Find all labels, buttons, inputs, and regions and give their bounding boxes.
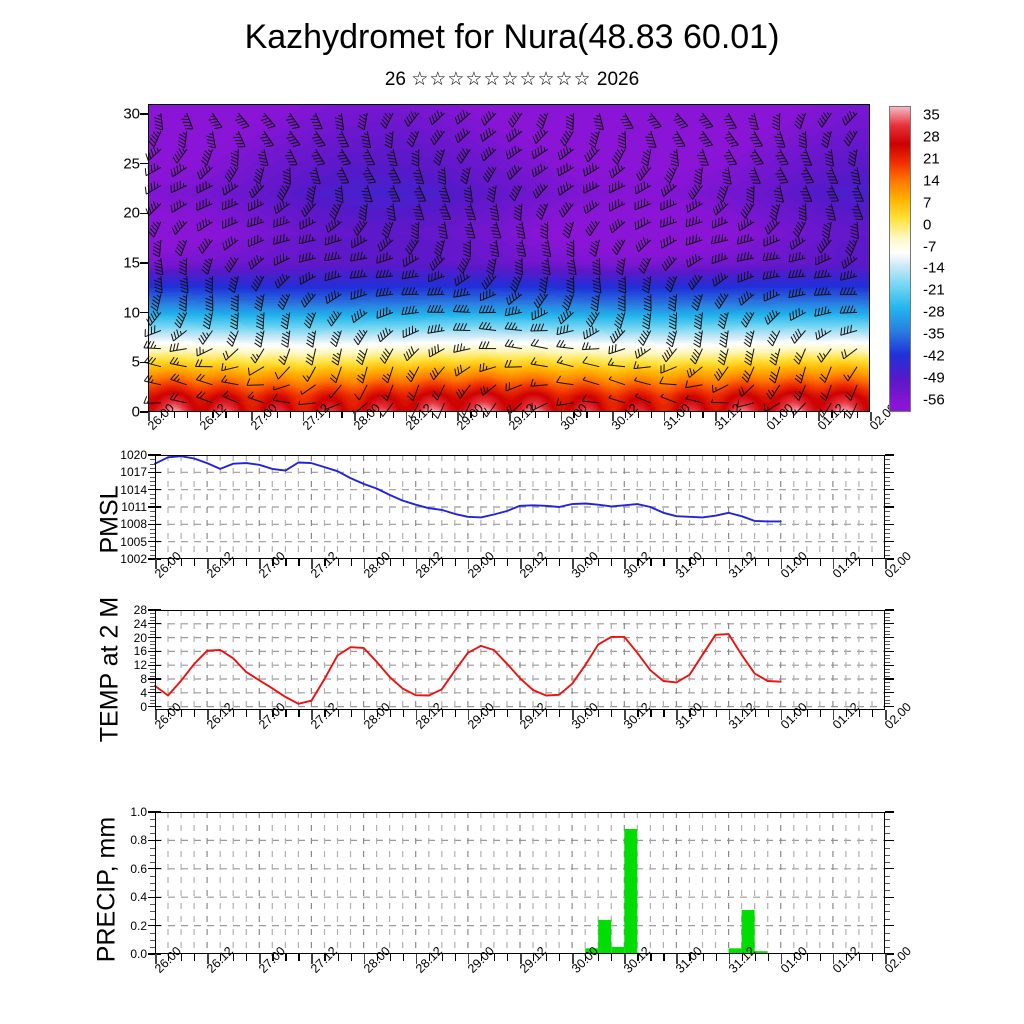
x-tick [820, 710, 821, 717]
y-minor-tick-right [885, 689, 890, 690]
y-minor-tick-right [885, 464, 890, 465]
pmsl-panel [155, 455, 885, 559]
y-minor-tick [150, 933, 155, 934]
y-tick-label: 15 [96, 254, 140, 271]
colorbar-tick-label: -56 [923, 391, 945, 408]
y-tick [148, 489, 155, 490]
x-tick [403, 559, 404, 566]
x-tick [820, 954, 821, 961]
x-tick [496, 412, 497, 418]
x-tick-label: 02.00 [882, 700, 914, 732]
y-minor-tick [150, 696, 155, 697]
colorbar-tick-label: 0 [923, 216, 931, 233]
y-minor-tick [150, 634, 155, 635]
x-tick [194, 954, 195, 961]
cross-section-panel [148, 104, 870, 412]
colorbar-tick-label: 35 [923, 107, 940, 124]
y-minor-tick-right [885, 550, 890, 551]
colorbar-tick-label: 28 [923, 129, 940, 146]
y-tick-right [885, 868, 894, 869]
y-minor-tick [150, 819, 155, 820]
colorbar-tick-label: 14 [923, 172, 940, 189]
y-tick [148, 953, 155, 954]
y-minor-tick [150, 555, 155, 556]
y-tick [140, 213, 148, 214]
y-tick-inner [155, 609, 161, 610]
y-tick-inner [155, 868, 161, 869]
y-minor-tick [150, 494, 155, 495]
y-minor-tick-right [885, 662, 890, 663]
y-tick-label: 4 [99, 686, 147, 700]
x-tick [403, 710, 404, 717]
temp-panel [155, 610, 885, 710]
y-minor-tick [150, 855, 155, 856]
subtitle-day: 26 [385, 69, 406, 90]
y-tick [148, 706, 155, 707]
y-minor-tick-right [885, 555, 890, 556]
page-subtitle: 26 ☆☆☆☆☆☆☆☆☆☆ 2026 [0, 68, 1024, 91]
x-tick [445, 412, 446, 418]
y-minor-tick [150, 546, 155, 547]
subtitle-year: 2026 [597, 69, 639, 90]
x-tick [872, 954, 873, 961]
y-minor-tick-right [885, 658, 890, 659]
y-tick-right [885, 692, 894, 693]
x-tick [559, 954, 560, 961]
y-tick-label: 25 [96, 155, 140, 172]
x-tick [611, 954, 612, 961]
y-tick-right [885, 706, 894, 707]
y-tick [148, 637, 155, 638]
y-minor-tick-right [885, 516, 890, 517]
y-tick-right [885, 840, 894, 841]
y-minor-tick-right [885, 648, 890, 649]
y-tick [148, 811, 155, 812]
x-tick [872, 559, 873, 566]
y-tick-right [885, 506, 894, 507]
y-minor-tick-right [885, 546, 890, 547]
x-tick [768, 954, 769, 961]
y-minor-tick [150, 919, 155, 920]
y-tick-label: 20 [96, 205, 140, 222]
y-tick-right [885, 472, 894, 473]
y-tick-inner [155, 811, 161, 812]
x-tick [455, 710, 456, 717]
y-tick [140, 312, 148, 313]
y-minor-tick-right [885, 876, 890, 877]
y-minor-tick-right [885, 529, 890, 530]
cross-section-frame [148, 104, 870, 412]
x-tick [754, 412, 755, 418]
y-tick-right [885, 925, 894, 926]
y-minor-tick [150, 890, 155, 891]
y-tick-label: 30 [96, 105, 140, 122]
x-tick [351, 954, 352, 961]
x-tick [246, 710, 247, 717]
x-tick [187, 412, 188, 418]
y-tick-right [885, 454, 894, 455]
y-minor-tick-right [885, 826, 890, 827]
y-minor-tick [150, 676, 155, 677]
colorbar-tick-label: -28 [923, 304, 945, 321]
x-tick [298, 559, 299, 566]
pmsl-frame [155, 455, 885, 559]
y-tick [140, 113, 148, 114]
x-tick [702, 412, 703, 418]
x-tick [298, 710, 299, 717]
temp-frame [155, 610, 885, 710]
y-minor-tick [150, 862, 155, 863]
y-minor-tick-right [885, 904, 890, 905]
y-minor-tick-right [885, 911, 890, 912]
y-minor-tick-right [885, 641, 890, 642]
y-minor-tick-right [885, 511, 890, 512]
precip-panel [155, 812, 885, 954]
y-minor-tick [150, 481, 155, 482]
y-tick [148, 925, 155, 926]
y-tick-right [885, 665, 894, 666]
y-minor-tick-right [885, 481, 890, 482]
x-tick [559, 710, 560, 717]
y-minor-tick [150, 516, 155, 517]
y-tick-label: 1002 [99, 552, 147, 566]
y-minor-tick-right [885, 855, 890, 856]
x-tick [290, 412, 291, 418]
y-tick-right [885, 489, 894, 490]
x-tick [246, 559, 247, 566]
y-minor-tick-right [885, 669, 890, 670]
y-minor-tick-right [885, 676, 890, 677]
y-minor-tick-right [885, 644, 890, 645]
y-tick [148, 558, 155, 559]
x-tick [716, 954, 717, 961]
y-tick [148, 623, 155, 624]
x-tick [507, 710, 508, 717]
y-tick-inner [155, 506, 161, 507]
y-minor-tick [150, 700, 155, 701]
y-tick-label: 24 [99, 617, 147, 631]
y-minor-tick-right [885, 947, 890, 948]
y-minor-tick [150, 485, 155, 486]
y-minor-tick [150, 641, 155, 642]
y-tick-label: 5 [96, 354, 140, 371]
y-minor-tick [150, 662, 155, 663]
y-minor-tick [150, 550, 155, 551]
x-tick [651, 412, 652, 418]
x-tick [663, 559, 664, 566]
subtitle-month-missing-glyphs: ☆☆☆☆☆☆☆☆☆☆ [411, 69, 591, 90]
x-tick [716, 710, 717, 717]
y-minor-tick [150, 911, 155, 912]
y-minor-tick-right [885, 862, 890, 863]
y-tick-right [885, 637, 894, 638]
y-minor-tick [150, 529, 155, 530]
y-tick [148, 609, 155, 610]
x-tick [455, 954, 456, 961]
x-tick [663, 710, 664, 717]
x-tick [806, 412, 807, 418]
colorbar-tick-label: -49 [923, 369, 945, 386]
y-minor-tick-right [885, 682, 890, 683]
y-tick-inner [155, 541, 161, 542]
y-minor-tick [150, 655, 155, 656]
y-minor-tick-right [885, 617, 890, 618]
y-minor-tick-right [885, 520, 890, 521]
y-minor-tick [150, 533, 155, 534]
x-tick [455, 559, 456, 566]
y-tick-label: 0.2 [99, 919, 147, 933]
y-minor-tick [150, 682, 155, 683]
y-minor-tick [150, 468, 155, 469]
y-minor-tick [150, 658, 155, 659]
x-tick [507, 954, 508, 961]
y-tick-right [885, 524, 894, 525]
y-minor-tick [150, 703, 155, 704]
x-tick [351, 559, 352, 566]
y-minor-tick [150, 904, 155, 905]
x-tick [768, 559, 769, 566]
y-tick-label: 1008 [99, 517, 147, 531]
x-tick [194, 559, 195, 566]
y-tick-inner [155, 925, 161, 926]
y-minor-tick-right [885, 883, 890, 884]
y-minor-tick [150, 613, 155, 614]
y-tick-inner [155, 489, 161, 490]
y-tick-inner [155, 665, 161, 666]
y-tick [148, 868, 155, 869]
x-tick [298, 954, 299, 961]
y-tick-inner [155, 840, 161, 841]
y-tick-label: 1017 [99, 465, 147, 479]
y-tick-label: 0 [99, 700, 147, 714]
weather-forecast-figure: Kazhydromet for Nura(48.83 60.01) 26 ☆☆☆… [0, 0, 1024, 1024]
y-minor-tick-right [885, 919, 890, 920]
x-tick [507, 559, 508, 566]
y-minor-tick-right [885, 494, 890, 495]
y-minor-tick [150, 627, 155, 628]
y-tick-right [885, 541, 894, 542]
colorbar-tick-label: -35 [923, 325, 945, 342]
colorbar-tick-label: -42 [923, 347, 945, 364]
colorbar-tick-label: -7 [923, 238, 936, 255]
y-minor-tick-right [885, 940, 890, 941]
y-minor-tick [150, 672, 155, 673]
y-minor-tick [150, 537, 155, 538]
y-minor-tick [150, 631, 155, 632]
y-minor-tick-right [885, 655, 890, 656]
x-tick [768, 710, 769, 717]
x-tick [663, 954, 664, 961]
y-minor-tick-right [885, 819, 890, 820]
y-minor-tick [150, 833, 155, 834]
y-minor-tick-right [885, 686, 890, 687]
x-tick [194, 710, 195, 717]
y-tick [148, 472, 155, 473]
y-tick-right [885, 897, 894, 898]
x-tick [393, 412, 394, 418]
y-tick-inner [155, 692, 161, 693]
y-minor-tick [150, 947, 155, 948]
y-minor-tick-right [885, 631, 890, 632]
y-tick-inner [155, 651, 161, 652]
y-tick-inner [155, 623, 161, 624]
y-minor-tick-right [885, 933, 890, 934]
y-tick [148, 678, 155, 679]
y-tick [148, 524, 155, 525]
y-tick-label: 10 [96, 304, 140, 321]
x-tick [351, 710, 352, 717]
x-tick-label: 02.00 [882, 944, 914, 976]
y-minor-tick [150, 498, 155, 499]
y-tick-inner [155, 678, 161, 679]
y-minor-tick-right [885, 533, 890, 534]
y-tick-inner [155, 897, 161, 898]
y-minor-tick-right [885, 620, 890, 621]
y-minor-tick [150, 464, 155, 465]
x-tick [611, 559, 612, 566]
y-minor-tick [150, 503, 155, 504]
y-minor-tick [150, 883, 155, 884]
y-tick-label: 12 [99, 658, 147, 672]
y-minor-tick-right [885, 700, 890, 701]
x-tick [599, 412, 600, 418]
colorbar [889, 106, 911, 412]
y-tick [140, 262, 148, 263]
y-tick-label: 20 [99, 631, 147, 645]
y-minor-tick [150, 940, 155, 941]
y-minor-tick [150, 689, 155, 690]
x-tick [716, 559, 717, 566]
y-tick [148, 506, 155, 507]
y-minor-tick-right [885, 848, 890, 849]
y-minor-tick-right [885, 503, 890, 504]
y-tick [140, 163, 148, 164]
page-title: Kazhydromet for Nura(48.83 60.01) [0, 18, 1024, 57]
y-minor-tick [150, 477, 155, 478]
y-tick [140, 362, 148, 363]
y-tick-label: 16 [99, 644, 147, 658]
y-minor-tick-right [885, 833, 890, 834]
y-tick-label: 1011 [99, 500, 147, 514]
y-minor-tick [150, 876, 155, 877]
y-tick-right [885, 609, 894, 610]
y-minor-tick-right [885, 613, 890, 614]
y-minor-tick [150, 826, 155, 827]
y-tick-label: 8 [99, 672, 147, 686]
y-tick-right [885, 623, 894, 624]
x-tick [857, 412, 858, 418]
x-tick [341, 412, 342, 418]
y-minor-tick-right [885, 627, 890, 628]
y-minor-tick [150, 620, 155, 621]
colorbar-tick-label: -14 [923, 260, 945, 277]
x-tick [872, 710, 873, 717]
y-minor-tick [150, 686, 155, 687]
colorbar-tick-label: -21 [923, 282, 945, 299]
y-minor-tick [150, 520, 155, 521]
y-tick-inner [155, 637, 161, 638]
y-tick [148, 840, 155, 841]
y-minor-tick [150, 617, 155, 618]
y-minor-tick-right [885, 672, 890, 673]
x-tick [403, 954, 404, 961]
y-minor-tick-right [885, 537, 890, 538]
x-tick [820, 559, 821, 566]
y-tick [148, 651, 155, 652]
x-tick [246, 954, 247, 961]
y-tick [148, 897, 155, 898]
y-tick-label: 0.0 [99, 947, 147, 961]
y-tick [148, 454, 155, 455]
y-tick-label: 28 [99, 603, 147, 617]
y-minor-tick-right [885, 477, 890, 478]
y-minor-tick-right [885, 890, 890, 891]
y-minor-tick-right [885, 634, 890, 635]
y-minor-tick [150, 848, 155, 849]
precip-frame [155, 812, 885, 954]
y-tick-inner [155, 706, 161, 707]
y-tick-right [885, 678, 894, 679]
y-minor-tick-right [885, 498, 890, 499]
y-tick [140, 411, 148, 412]
y-tick [148, 692, 155, 693]
colorbar-tick-label: 21 [923, 151, 940, 168]
x-tick [611, 710, 612, 717]
y-minor-tick-right [885, 696, 890, 697]
y-minor-tick [150, 648, 155, 649]
y-tick [148, 541, 155, 542]
y-tick-label: 1014 [99, 483, 147, 497]
y-tick-label: 1.0 [99, 805, 147, 819]
y-tick-label: 0.6 [99, 862, 147, 876]
y-tick-inner [155, 454, 161, 455]
y-minor-tick-right [885, 459, 890, 460]
y-minor-tick [150, 459, 155, 460]
y-tick-label: 0.8 [99, 833, 147, 847]
y-minor-tick-right [885, 468, 890, 469]
y-minor-tick-right [885, 485, 890, 486]
y-minor-tick [150, 511, 155, 512]
y-tick [148, 665, 155, 666]
x-tick [559, 559, 560, 566]
y-tick-right [885, 811, 894, 812]
y-minor-tick-right [885, 703, 890, 704]
y-minor-tick [150, 644, 155, 645]
colorbar-tick-label: 7 [923, 194, 931, 211]
y-tick-inner [155, 524, 161, 525]
y-tick-label: 1005 [99, 535, 147, 549]
y-tick-label: 1020 [99, 448, 147, 462]
y-tick-right [885, 651, 894, 652]
x-tick [548, 412, 549, 418]
x-tick [238, 412, 239, 418]
y-minor-tick [150, 669, 155, 670]
y-tick-label: 0.4 [99, 890, 147, 904]
y-tick-inner [155, 472, 161, 473]
y-tick-label: 0 [96, 404, 140, 421]
